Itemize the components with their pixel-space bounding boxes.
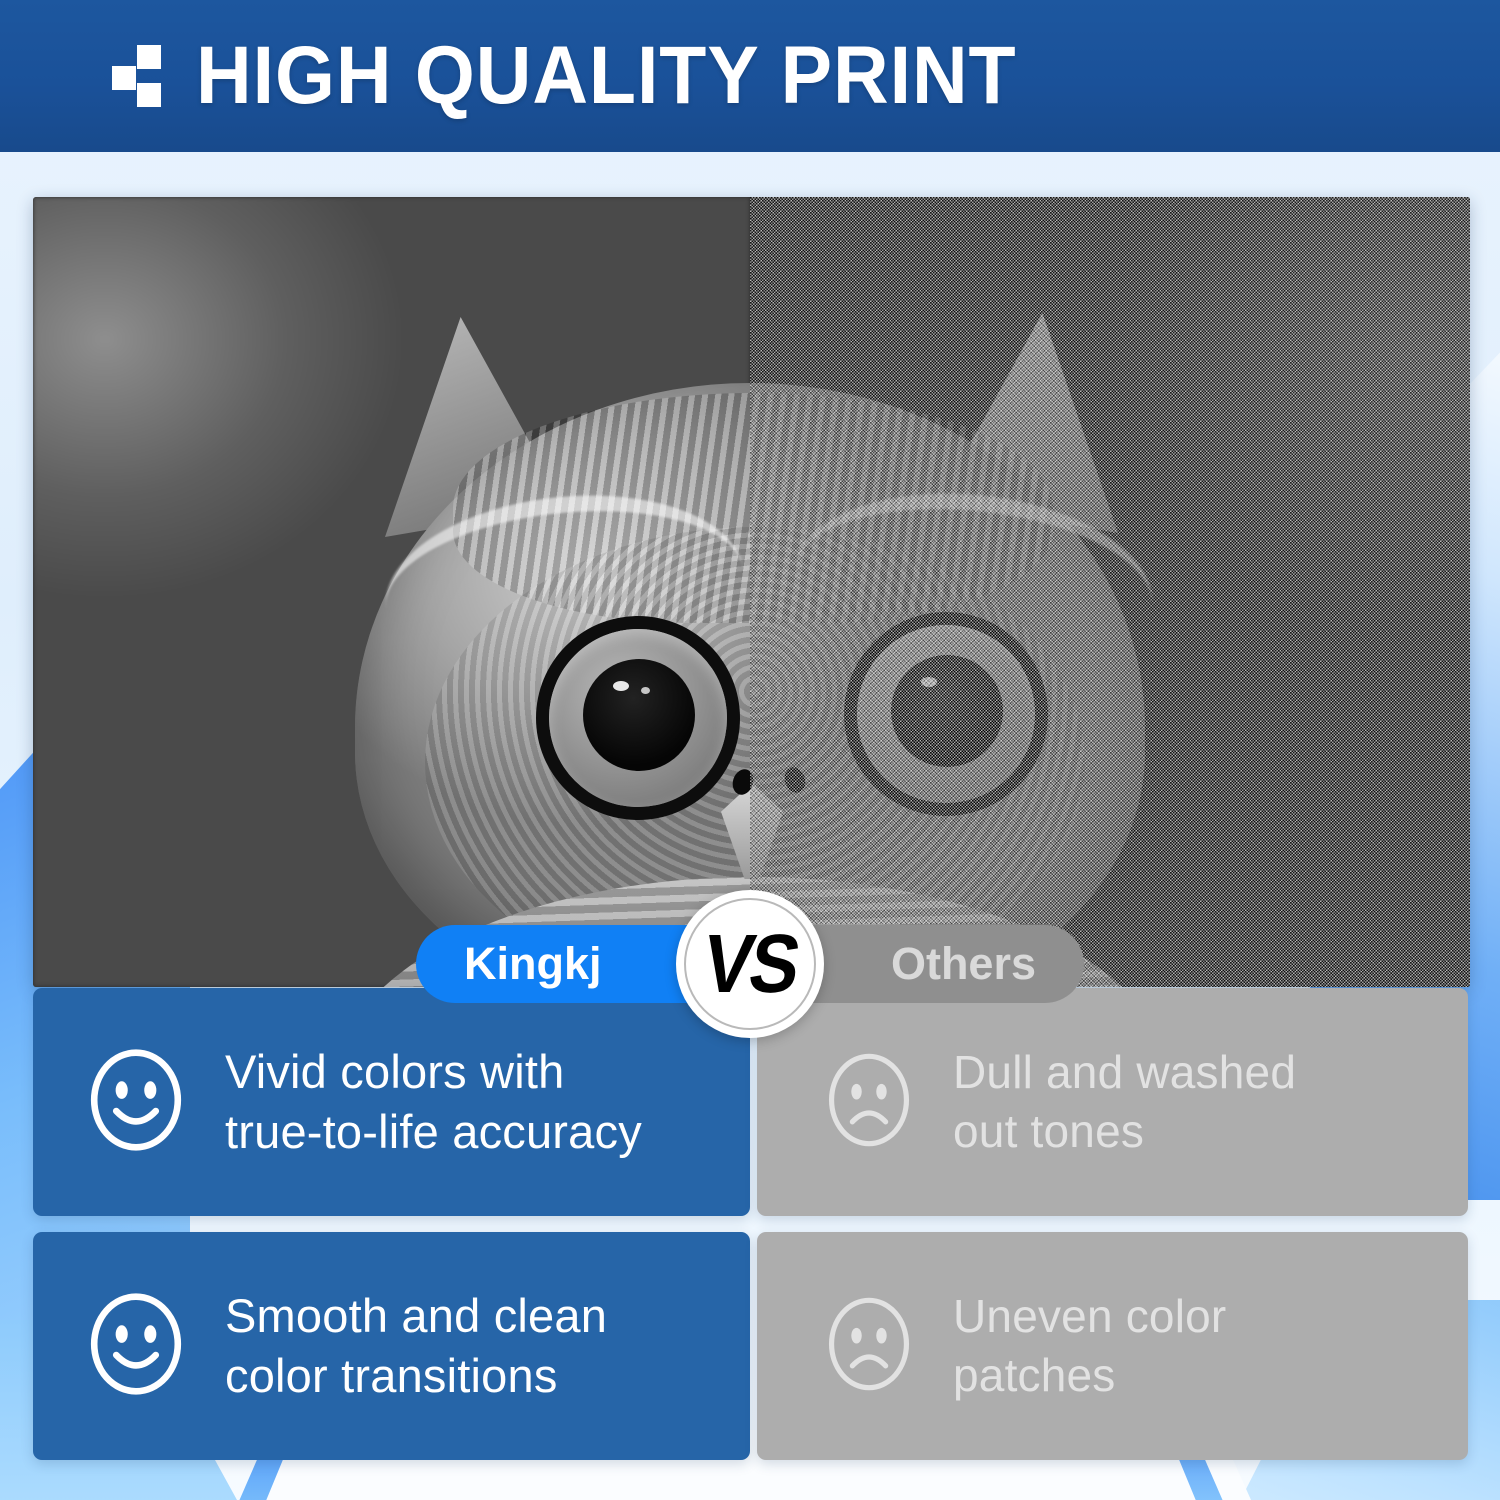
promo-banner: HIGH QUALITY PRINT xyxy=(0,0,1500,1500)
header-bar: HIGH QUALITY PRINT xyxy=(0,0,1500,152)
photo-half-others xyxy=(750,197,1470,987)
feature-card-text: Smooth and clean color transitions xyxy=(225,1286,607,1406)
print-noise-overlay xyxy=(750,197,1470,987)
sad-face-icon xyxy=(817,1292,921,1401)
vs-badge: VS xyxy=(676,890,824,1038)
page-title: HIGH QUALITY PRINT xyxy=(196,35,1017,117)
feature-card-bad-1: Dull and washed out tones xyxy=(757,988,1468,1216)
sad-face-icon xyxy=(817,1048,921,1157)
three-squares-logo-icon xyxy=(112,45,166,107)
vs-label: VS xyxy=(697,923,803,1006)
feature-card-text: Uneven color patches xyxy=(953,1287,1226,1405)
feature-card-bad-2: Uneven color patches xyxy=(757,1232,1468,1460)
feature-card-good-2: Smooth and clean color transitions xyxy=(33,1232,750,1460)
feature-card-grid: Vivid colors with true-to-life accuracy … xyxy=(0,988,1500,1468)
feature-card-good-1: Vivid colors with true-to-life accuracy xyxy=(33,988,750,1216)
others-pill-label: Others xyxy=(891,938,1036,990)
owl-eye-left xyxy=(549,629,727,807)
comparison-photo xyxy=(33,197,1470,987)
smiley-face-icon xyxy=(81,1289,191,1404)
feature-card-text: Dull and washed out tones xyxy=(953,1043,1296,1161)
brand-pill-label: Kingkj xyxy=(464,938,602,990)
versus-row: Kingkj VS Others xyxy=(0,925,1500,1003)
owl-illustration-left xyxy=(33,197,750,987)
photo-half-kingkj xyxy=(33,197,750,987)
feature-card-text: Vivid colors with true-to-life accuracy xyxy=(225,1042,642,1162)
smiley-face-icon xyxy=(81,1045,191,1160)
